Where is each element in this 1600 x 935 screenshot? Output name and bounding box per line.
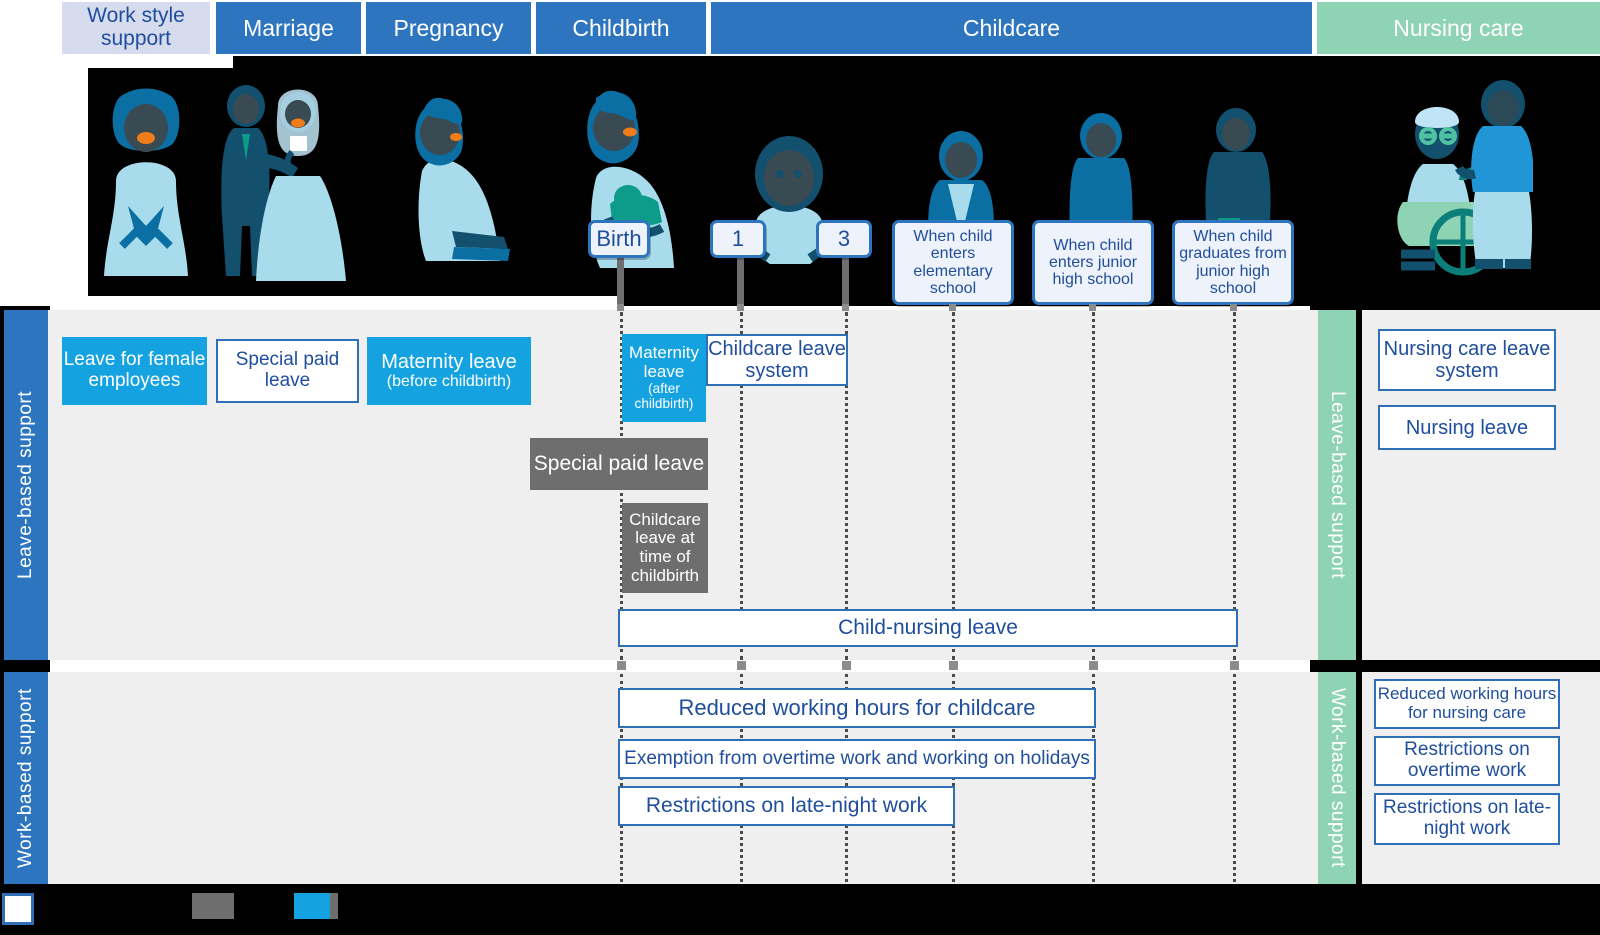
legend-bar [0,884,1600,935]
band-cutout-left [0,56,88,306]
item-label: Child-nursing leave [838,616,1018,639]
timeline-node-top [842,304,849,311]
stage-tab-childbirth[interactable]: Childbirth [536,2,706,54]
item-nursing-care-leave-system[interactable]: Nursing care leave system [1378,329,1556,391]
milestone-label: 3 [838,227,850,251]
timeline-guide-graduate [1233,312,1236,660]
stage-tab-work-style-support[interactable]: Work style support [62,2,210,54]
rail-right-leave-based-support: Leave-based support [1318,310,1356,660]
timeline-node-top [1089,304,1096,311]
stage-tab-pregnancy[interactable]: Pregnancy [366,2,531,54]
item-label: Restrictions on overtime work [1376,740,1558,782]
item-label: Nursing care leave system [1380,338,1554,382]
stage-tab-label: Marriage [243,16,334,41]
stage-tab-label: Nursing care [1393,16,1523,41]
item-restrictions-late-night-work[interactable]: Restrictions on late-night work [618,786,955,826]
item-sublabel: (after childbirth) [623,382,705,412]
timeline-node [617,661,626,670]
item-child-nursing-leave[interactable]: Child-nursing leave [618,609,1238,647]
nursing-care-icon [1363,74,1533,284]
illustration-band [0,56,1600,306]
item-reduced-working-hours-nursing[interactable]: Reduced working hours for nursing care [1374,679,1560,729]
milestone-enters-elementary[interactable]: When child enters elementary school [892,220,1014,305]
timeline-node [949,661,958,670]
timeline-node [1230,661,1239,670]
timeline-node [1089,661,1098,670]
stage-tab-label: Childbirth [572,16,669,41]
milestone-label: When child enters junior high school [1035,237,1151,288]
item-label: Reduced working hours for childcare [678,696,1035,720]
milestone-label: Birth [596,227,641,251]
milestone-label: When child graduates from junior high sc… [1175,228,1291,296]
item-label: Maternity leave [623,344,705,381]
milestone-birth[interactable]: Birth [588,220,650,258]
person-work-style-icon [86,86,206,286]
milestone-post-birth [617,256,624,306]
milestone-graduates-junior-high[interactable]: When child graduates from junior high sc… [1172,220,1294,305]
legend-swatch-grey [192,893,234,919]
stage-tab-childcare[interactable]: Childcare [711,2,1312,54]
item-sublabel: (before childbirth) [387,373,512,391]
item-label: Exemption from overtime work and working… [624,749,1090,770]
rail-label: Work-based support [4,672,48,884]
item-label: Reduced working hours for nursing care [1376,685,1558,722]
stage-tab-nursing-care[interactable]: Nursing care [1317,2,1600,54]
milestone-age-1[interactable]: 1 [710,220,766,258]
rail-label: Work-based support [1318,672,1356,884]
timeline-node-top [617,304,624,311]
item-label: Maternity leave [381,351,517,373]
milestone-post-1 [737,256,744,306]
person-pregnancy-icon [396,91,521,276]
rail-label: Leave-based support [1318,310,1356,660]
timeline-guide-graduate-2 [1233,674,1236,882]
timeline-node-top [1230,304,1237,311]
timeline-node [842,661,851,670]
item-label: Restrictions on late-night work [1376,798,1558,840]
timeline-node-top [737,304,744,311]
item-label: Leave for female employees [63,350,206,392]
stage-tab-label: Pregnancy [394,16,504,41]
band-cutout-top [88,56,233,68]
diagram-root: Work style support Marriage Pregnancy Ch… [0,0,1600,935]
item-label: Restrictions on late-night work [646,794,927,817]
milestone-enters-junior-high[interactable]: When child enters junior high school [1032,220,1154,305]
item-restrictions-overtime-work[interactable]: Restrictions on overtime work [1374,736,1560,786]
rail-right-work-based-support: Work-based support [1318,672,1356,884]
timeline-guide-junior [1092,312,1095,660]
stage-tab-bar: Work style support Marriage Pregnancy Ch… [0,0,1600,56]
item-nursing-leave[interactable]: Nursing leave [1378,405,1556,450]
item-maternity-leave-after[interactable]: Maternity leave (after childbirth) [622,334,706,422]
item-exemption-overtime-holidays[interactable]: Exemption from overtime work and working… [618,739,1096,779]
rail-left-leave-based-support: Leave-based support [4,310,48,660]
milestone-age-3[interactable]: 3 [816,220,872,258]
item-label: Special paid leave [218,350,357,392]
band-cutout-bottom [0,296,624,306]
item-special-paid-leave[interactable]: Special paid leave [216,339,359,403]
item-label: Childcare leave at time of childbirth [623,511,707,586]
item-childcare-leave-system[interactable]: Childcare leave system [706,334,848,386]
item-leave-for-female-employees[interactable]: Leave for female employees [62,337,207,405]
item-maternity-leave-before[interactable]: Maternity leave (before childbirth) [367,337,531,405]
milestone-label: 1 [732,227,744,251]
stage-tab-marriage[interactable]: Marriage [216,2,361,54]
timeline-node [737,661,746,670]
timeline-guide-elementary [952,312,955,660]
milestone-post-3 [842,256,849,306]
item-childcare-leave-at-childbirth[interactable]: Childcare leave at time of childbirth [622,503,708,593]
milestone-label: When child enters elementary school [895,228,1011,296]
item-restrictions-late-night-nursing[interactable]: Restrictions on late-night work [1374,793,1560,845]
legend-swatch-grey-small [330,893,338,919]
item-label: Childcare leave system [708,338,846,382]
person-marriage-icon [206,76,361,291]
legend-swatch-statutory [2,893,34,925]
rail-left-work-based-support: Work-based support [4,672,48,884]
timeline-node-top [949,304,956,311]
item-reduced-working-hours-childcare[interactable]: Reduced working hours for childcare [618,688,1096,728]
item-special-paid-leave-childbirth[interactable]: Special paid leave [530,438,708,490]
item-label: Nursing leave [1406,417,1528,439]
stage-tab-label: Work style support [68,5,204,50]
stage-tab-label: Childcare [963,16,1060,41]
rail-label: Leave-based support [4,310,48,660]
item-label: Special paid leave [534,452,704,475]
